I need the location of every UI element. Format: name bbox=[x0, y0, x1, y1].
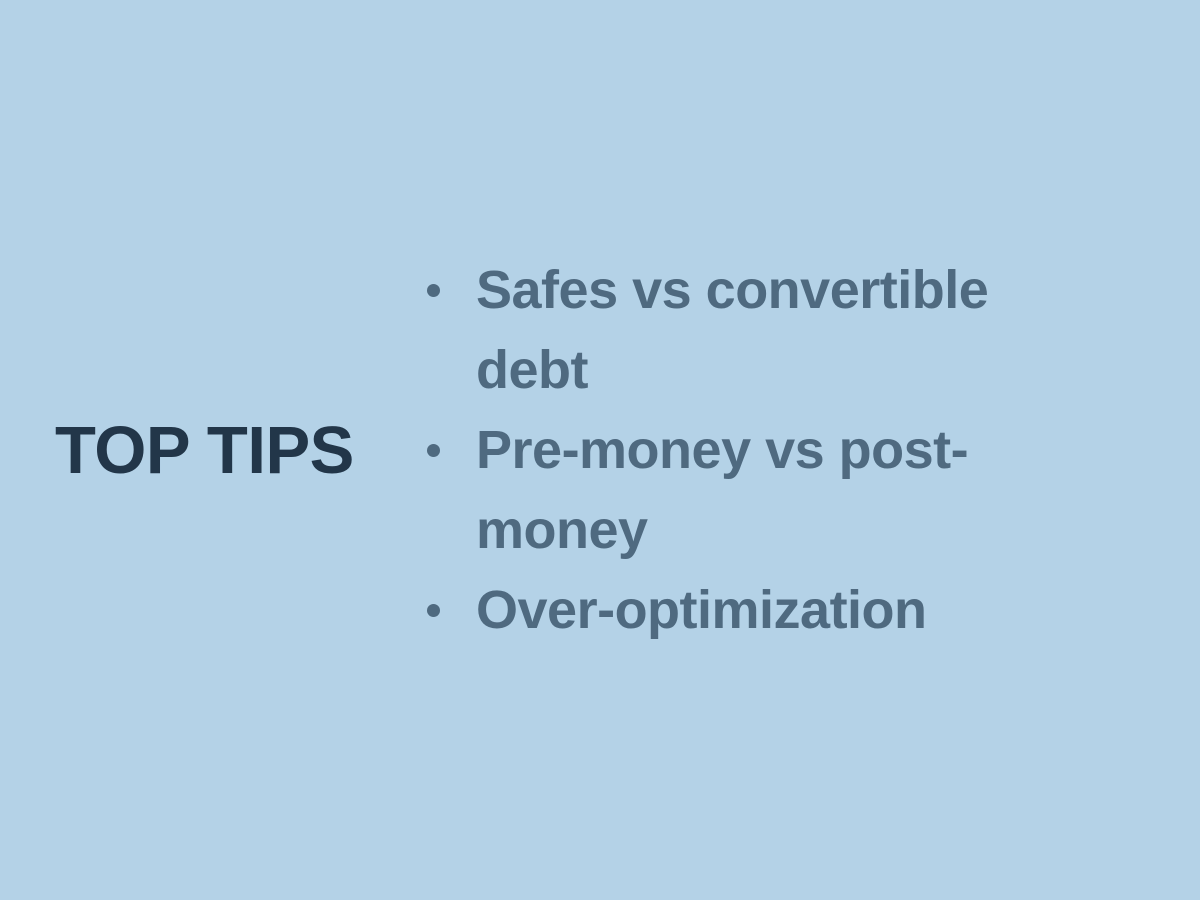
list-item: Safes vs convertible debt bbox=[425, 250, 1022, 410]
slide-canvas: TOP TIPS Safes vs convertible debt Pre-m… bbox=[0, 0, 1200, 900]
title-block: TOP TIPS bbox=[55, 0, 395, 900]
list-item-label: Pre-money vs post-money bbox=[476, 410, 1022, 570]
bullet-dot-icon bbox=[427, 604, 440, 617]
list-item: Pre-money vs post-money bbox=[425, 410, 1022, 570]
bullet-dot-icon bbox=[427, 444, 440, 457]
page-title: TOP TIPS bbox=[55, 417, 354, 484]
tips-block: Safes vs convertible debt Pre-money vs p… bbox=[425, 0, 1045, 900]
list-item-label: Over-optimization bbox=[476, 570, 1022, 650]
tips-list: Safes vs convertible debt Pre-money vs p… bbox=[425, 250, 1045, 650]
list-item: Over-optimization bbox=[425, 570, 1022, 650]
list-item-label: Safes vs convertible debt bbox=[476, 250, 1022, 410]
bullet-dot-icon bbox=[427, 284, 440, 297]
